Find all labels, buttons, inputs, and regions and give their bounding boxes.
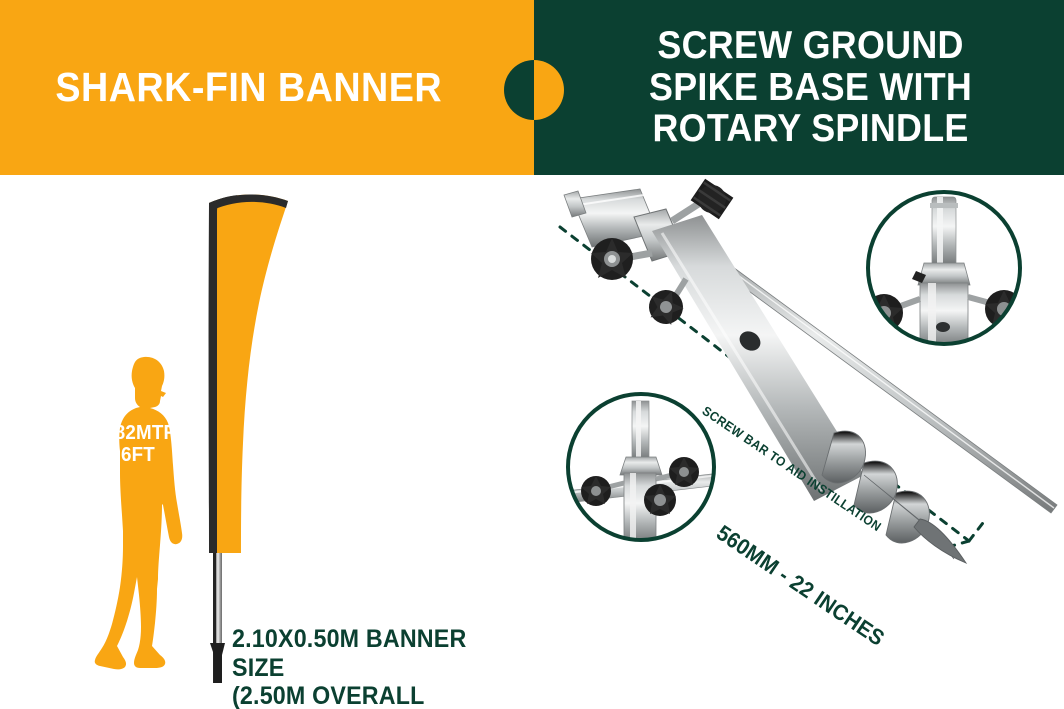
page-title-right: SCREW GROUND SPIKE BASE WITH ROTARY SPIN… bbox=[625, 25, 972, 150]
spindle-closeup-inset-icon bbox=[865, 192, 1023, 349]
ground-screw-spike-icon bbox=[534, 175, 1064, 575]
header-left-orange-panel: SHARK-FIN BANNER bbox=[0, 0, 534, 175]
split-circle-left-half bbox=[504, 60, 534, 120]
split-circle-divider-icon bbox=[504, 60, 564, 120]
banner-size-line-2: (2.50M OVERALL HEIGHT) bbox=[232, 682, 502, 709]
page-title-right-line-1: SCREW GROUND bbox=[649, 25, 972, 67]
banner-size-line-1: 2.10X0.50M BANNER SIZE bbox=[232, 625, 502, 682]
page-title-right-line-2: SPIKE BASE WITH bbox=[649, 67, 972, 109]
content-area: 1.82MTR 6FT bbox=[0, 175, 1064, 709]
left-panel-banner-scale: 1.82MTR 6FT bbox=[0, 175, 534, 709]
infographic-page: SHARK-FIN BANNER SCREW GROUND SPIKE BASE… bbox=[0, 0, 1064, 709]
person-height-imperial: 6FT bbox=[91, 445, 185, 467]
split-circle-right-half bbox=[534, 60, 564, 120]
person-height-metric: 1.82MTR bbox=[91, 423, 185, 445]
shark-fin-banner-icon bbox=[188, 185, 368, 685]
page-title-left: SHARK-FIN BANNER bbox=[55, 64, 478, 111]
page-title-right-line-3: ROTARY SPINDLE bbox=[649, 108, 972, 150]
header-bar: SHARK-FIN BANNER SCREW GROUND SPIKE BASE… bbox=[0, 0, 1064, 175]
crossbar-spindle-closeup-inset-icon bbox=[566, 394, 721, 545]
banner-size-caption: 2.10X0.50M BANNER SIZE (2.50M OVERALL HE… bbox=[232, 625, 502, 709]
person-height-label: 1.82MTR 6FT bbox=[91, 423, 185, 466]
header-right-green-panel: SCREW GROUND SPIKE BASE WITH ROTARY SPIN… bbox=[534, 0, 1064, 175]
right-panel-spike-detail: SUITABLE TO USE WITH THE MINI STANDARD, … bbox=[534, 175, 1064, 709]
